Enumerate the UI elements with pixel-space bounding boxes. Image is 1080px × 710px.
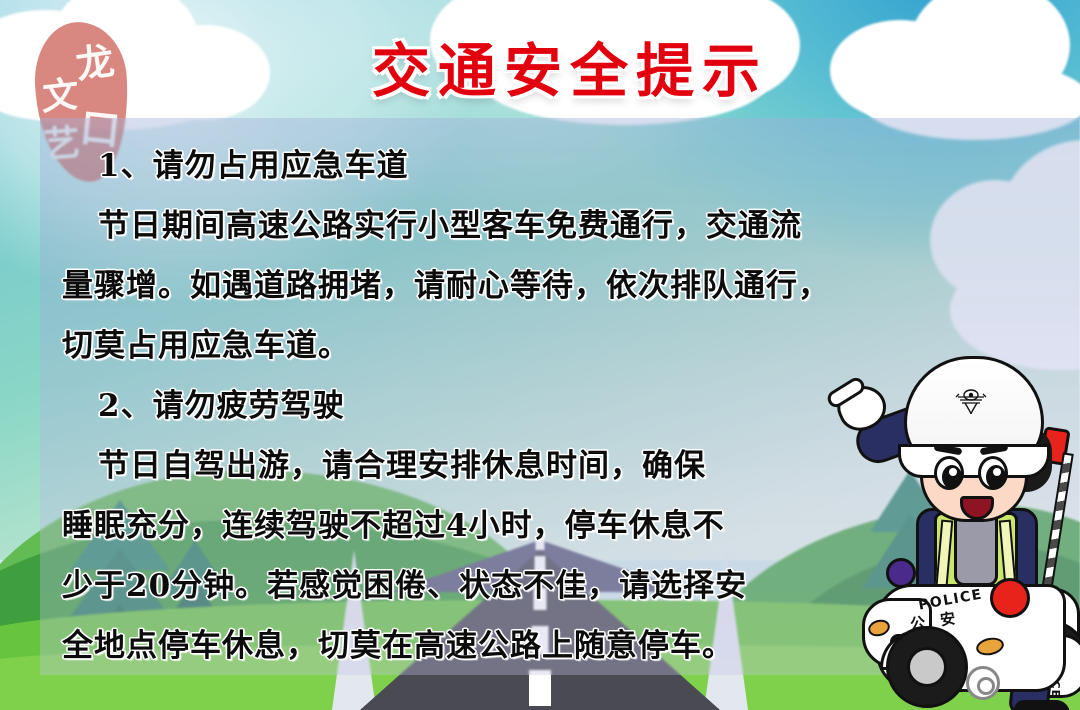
- motorcycle-red-beacon: [990, 578, 1030, 618]
- motorcycle-emblem: [966, 666, 1000, 700]
- motorcycle-windshield: [886, 558, 916, 588]
- motorcycle-front-wheel: [886, 626, 968, 708]
- officer-vest-inner: [954, 512, 998, 586]
- poster-root: 龙 文 口 艺 交通安全提示 1、请勿占用应急车道 节日期间高速公路实行小型客车…: [0, 0, 1080, 710]
- police-helmet-brim: [898, 444, 1050, 478]
- officer-eye: [934, 456, 964, 490]
- advisory-line: 切莫占用应急车道。: [62, 316, 852, 376]
- police-badge-icon: [954, 386, 988, 416]
- advisory-heading-2: 2、请勿疲劳驾驶: [62, 376, 852, 436]
- advisory-heading-1: 1、请勿占用应急车道: [62, 136, 852, 196]
- advisory-text-block: 1、请勿占用应急车道 节日期间高速公路实行小型客车免费通行，交通流 量骤增。如遇…: [62, 136, 852, 676]
- officer-eye: [978, 456, 1008, 490]
- advisory-line: 全地点停车休息，切莫在高速公路上随意停车。: [62, 616, 852, 676]
- officer-boot: [1014, 700, 1070, 710]
- advisory-line: 量骤增。如遇道路拥堵，请耐心等待，依次排队通行，: [62, 256, 852, 316]
- traffic-police-mascot: POLICE POLICE 公 安: [842, 348, 1080, 710]
- advisory-line: 少于20分钟。若感觉困倦、状态不佳，请选择安: [62, 556, 852, 616]
- advisory-line: 睡眠充分，连续驾驶不超过4小时，停车休息不: [62, 496, 852, 556]
- advisory-line: 节日自驾出游，请合理安排休息时间，确保: [62, 436, 852, 496]
- page-title: 交通安全提示: [0, 24, 1080, 108]
- advisory-line: 节日期间高速公路实行小型客车免费通行，交通流: [62, 196, 852, 256]
